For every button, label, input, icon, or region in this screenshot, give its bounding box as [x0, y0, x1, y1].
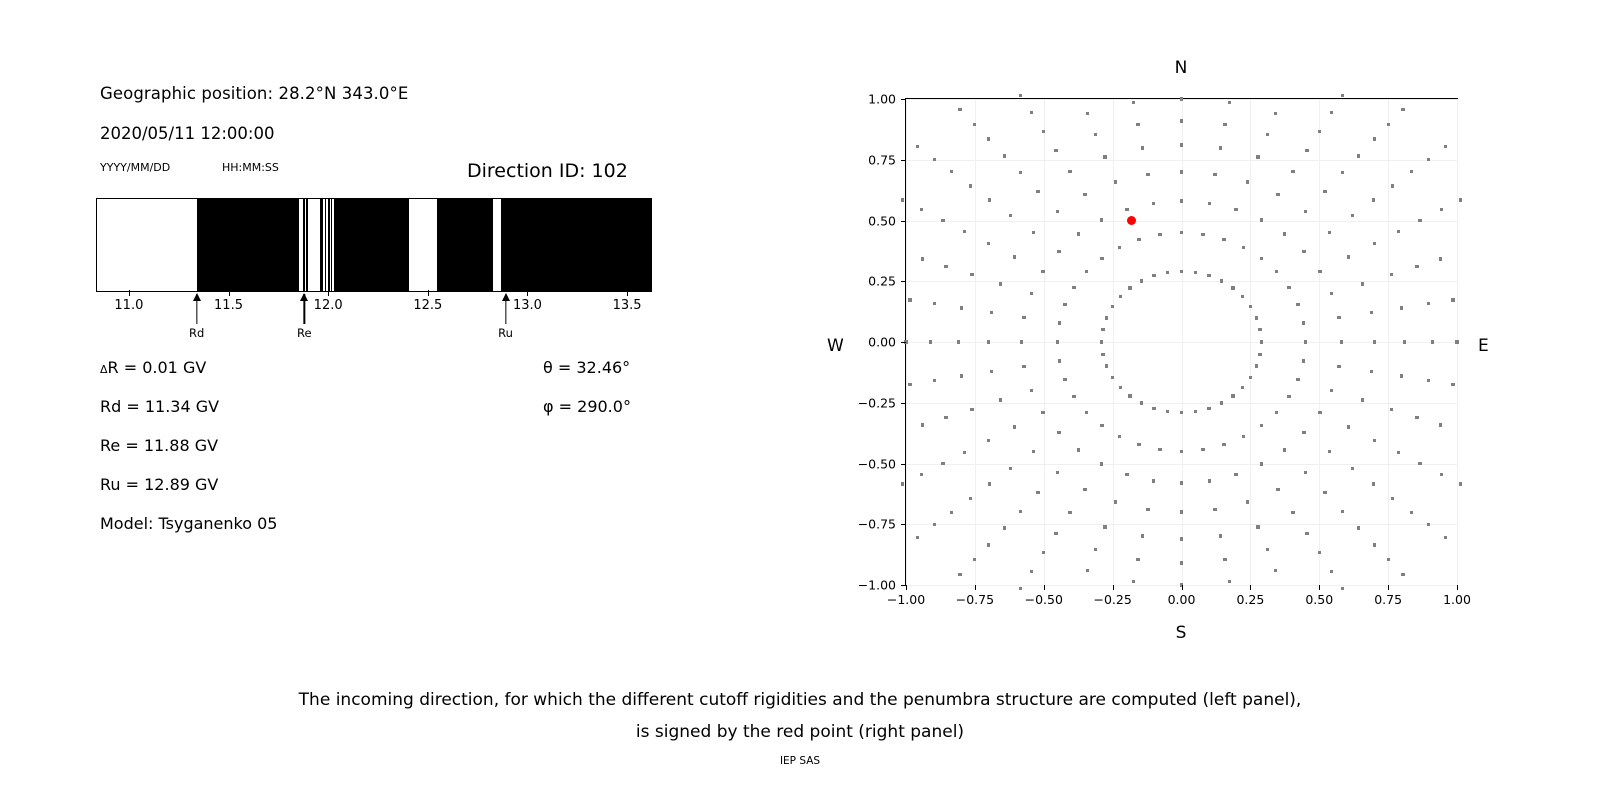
sky-map-x-tick [1044, 585, 1045, 590]
sky-map-x-tick-label: 0.25 [1236, 592, 1264, 607]
direction-grid-dot [1266, 548, 1269, 551]
direction-grid-dot [1330, 111, 1333, 114]
direction-grid-dot [1391, 497, 1394, 500]
direction-grid-dot [958, 108, 961, 111]
direction-grid-dot [1255, 316, 1258, 319]
direction-grid-dot [901, 198, 904, 201]
direction-grid-dot [1390, 408, 1393, 411]
direction-grid-dot [941, 462, 944, 465]
direction-grid-dot [1086, 569, 1089, 572]
direction-grid-dot [1180, 143, 1183, 146]
direction-grid-dot [1275, 270, 1278, 273]
direction-grid-dot [987, 137, 990, 140]
direction-grid-dot [1256, 155, 1259, 158]
direction-grid-dot [1305, 532, 1308, 535]
direction-grid-dot [988, 482, 991, 485]
direction-grid-dot [921, 257, 924, 260]
direction-grid-dot [1100, 257, 1103, 260]
direction-grid-dot [1054, 149, 1057, 152]
direction-grid-dot [1119, 295, 1122, 298]
direction-grid-dot [1022, 316, 1025, 319]
direction-grid-dot [1118, 246, 1121, 249]
direction-grid-dot [908, 298, 911, 301]
direction-grid-dot [941, 219, 944, 222]
direction-grid-dot [1207, 407, 1210, 410]
direction-grid-dot [963, 230, 966, 233]
direction-grid-dot [1019, 510, 1022, 513]
sky-map-y-tick [901, 221, 906, 222]
direction-grid-dot [1036, 491, 1039, 494]
sky-map-x-tick-label: 1.00 [1443, 592, 1471, 607]
direction-grid-dot [1030, 570, 1033, 573]
compass-south-label: S [1176, 623, 1187, 643]
direction-grid-dot [1072, 286, 1075, 289]
direction-grid-dot [1415, 416, 1418, 419]
direction-grid-dot [1296, 303, 1299, 306]
direction-grid-dot [950, 511, 953, 514]
direction-grid-dot [1330, 570, 1333, 573]
direction-grid-dot [1056, 471, 1059, 474]
direction-grid-dot [1128, 394, 1131, 397]
direction-grid-dot [1030, 111, 1033, 114]
direction-grid-dot [999, 282, 1002, 285]
direction-grid-dot [1100, 340, 1103, 343]
direction-grid-dot [1180, 561, 1183, 564]
direction-grid-dot [1373, 242, 1376, 245]
direction-grid-dot [1373, 137, 1376, 140]
direction-grid-dot [1274, 112, 1277, 115]
caption-line-1: The incoming direction, for which the di… [0, 684, 1600, 716]
direction-grid-dot [1401, 108, 1404, 111]
direction-grid-dot [1132, 101, 1135, 104]
direction-grid-dot [1063, 378, 1066, 381]
direction-grid-dot [1401, 573, 1404, 576]
direction-grid-dot [1302, 321, 1305, 324]
direction-grid-dot [1101, 353, 1104, 356]
direction-grid-dot [1328, 231, 1331, 234]
direction-grid-dot [1337, 316, 1340, 319]
direction-grid-dot [1201, 448, 1204, 451]
direction-grid-dot [1058, 359, 1061, 362]
direction-grid-dot [1118, 435, 1121, 438]
direction-grid-dot [1141, 534, 1144, 537]
direction-grid-dot [1287, 395, 1290, 398]
direction-grid-dot [1085, 411, 1088, 414]
direction-grid-dot [1418, 462, 1421, 465]
direction-grid-dot [1304, 210, 1307, 213]
sky-map-y-tick-label: 0.50 [868, 213, 896, 228]
direction-grid-dot [1100, 424, 1103, 427]
direction-grid-dot [1455, 340, 1458, 343]
direction-grid-dot [1242, 435, 1245, 438]
direction-grid-dot [1387, 123, 1390, 126]
sky-map-x-tick [906, 585, 907, 590]
direction-grid-dot [1258, 353, 1261, 356]
direction-grid-dot [1391, 184, 1394, 187]
direction-grid-dot [1022, 365, 1025, 368]
sky-map-axes: −1.00−0.75−0.50−0.250.000.250.500.751.00… [905, 98, 1458, 586]
direction-grid-dot [1400, 306, 1403, 309]
direction-grid-dot [1094, 133, 1097, 136]
direction-grid-dot [970, 273, 973, 276]
direction-grid-dot [957, 340, 960, 343]
direction-grid-dot [1222, 443, 1225, 446]
direction-grid-dot [1077, 448, 1080, 451]
direction-grid-dot [1255, 364, 1258, 367]
direction-grid-dot [1372, 482, 1375, 485]
direction-grid-dot [1427, 379, 1430, 382]
direction-grid-dot [987, 439, 990, 442]
direction-grid-dot [1318, 551, 1321, 554]
direction-grid-dot [1114, 180, 1117, 183]
grid-line-horizontal [906, 160, 1457, 161]
direction-grid-dot [1056, 340, 1059, 343]
direction-grid-dot [1351, 467, 1354, 470]
direction-grid-dot [1370, 370, 1373, 373]
direction-grid-dot [929, 340, 932, 343]
direction-grid-dot [1094, 548, 1097, 551]
direction-grid-dot [1213, 508, 1216, 511]
sky-map-y-tick [901, 160, 906, 161]
direction-grid-dot [1146, 508, 1149, 511]
direction-grid-dot [1032, 231, 1035, 234]
direction-grid-dot [1283, 448, 1286, 451]
direction-grid-dot [1152, 407, 1155, 410]
direction-grid-dot [1260, 257, 1263, 260]
direction-grid-dot [1223, 123, 1226, 126]
compass-north-label: N [1175, 58, 1188, 78]
direction-grid-dot [1220, 279, 1223, 282]
grid-line-horizontal [906, 221, 1457, 222]
direction-grid-dot [1291, 170, 1294, 173]
direction-grid-dot [933, 379, 936, 382]
direction-grid-dot [1347, 425, 1350, 428]
sky-map-y-tick [901, 342, 906, 343]
direction-grid-dot [1302, 250, 1305, 253]
direction-grid-dot [1207, 274, 1210, 277]
direction-grid-dot [1415, 265, 1418, 268]
direction-grid-dot [973, 558, 976, 561]
direction-grid-dot [1140, 401, 1143, 404]
direction-grid-dot [1009, 214, 1012, 217]
sky-map-y-tick [901, 464, 906, 465]
direction-grid-dot [1103, 155, 1106, 158]
direction-grid-dot [1058, 321, 1061, 324]
direction-grid-dot [916, 145, 919, 148]
direction-grid-dot [1242, 246, 1245, 249]
direction-grid-dot [1266, 133, 1269, 136]
direction-grid-dot [958, 573, 961, 576]
direction-grid-dot [987, 543, 990, 546]
direction-grid-dot [1427, 523, 1430, 526]
direction-grid-dot [990, 311, 993, 314]
direction-grid-dot [1152, 274, 1155, 277]
direction-grid-dot [1180, 510, 1183, 513]
direction-grid-dot [1323, 491, 1326, 494]
direction-grid-dot [1373, 439, 1376, 442]
direction-grid-dot [1246, 500, 1249, 503]
direction-grid-dot [1275, 411, 1278, 414]
sky-map-y-tick-label: 0.00 [868, 335, 896, 350]
direction-grid-dot [1030, 292, 1033, 295]
selected-direction-point[interactable] [1127, 216, 1136, 225]
direction-grid-dot [1013, 425, 1016, 428]
figure-caption: The incoming direction, for which the di… [0, 684, 1600, 748]
sky-map-x-tick [1113, 585, 1114, 590]
direction-grid-dot [1347, 255, 1350, 258]
direction-grid-dot [1180, 481, 1183, 484]
direction-grid-dot [1180, 537, 1183, 540]
direction-grid-dot [1341, 94, 1344, 97]
direction-grid-dot [1274, 569, 1277, 572]
direction-grid-dot [1152, 479, 1155, 482]
direction-grid-dot [1180, 199, 1183, 202]
direction-grid-dot [1083, 193, 1086, 196]
direction-grid-dot [1180, 119, 1183, 122]
direction-grid-dot [1260, 462, 1263, 465]
compass-east-label: E [1478, 336, 1489, 356]
direction-grid-dot [901, 482, 904, 485]
direction-grid-dot [1020, 340, 1023, 343]
direction-grid-dot [1400, 374, 1403, 377]
direction-grid-dot [1451, 298, 1454, 301]
direction-grid-dot [1234, 473, 1237, 476]
direction-grid-dot [1194, 410, 1197, 413]
direction-grid-dot [1180, 97, 1183, 100]
direction-grid-dot [1019, 171, 1022, 174]
direction-grid-dot [944, 265, 947, 268]
direction-grid-dot [1459, 482, 1462, 485]
sky-map-y-tick [901, 281, 906, 282]
direction-grid-dot [1249, 305, 1252, 308]
footer-credit: IEP SAS [0, 755, 1600, 767]
direction-grid-dot [1063, 303, 1066, 306]
sky-map-y-tick [901, 99, 906, 100]
direction-grid-dot [1013, 255, 1016, 258]
direction-grid-dot [1219, 534, 1222, 537]
direction-grid-dot [1125, 473, 1128, 476]
direction-grid-dot [1132, 580, 1135, 583]
grid-line-horizontal [906, 464, 1457, 465]
direction-grid-dot [1330, 292, 1333, 295]
sky-map-y-tick-label: −1.00 [858, 578, 896, 593]
direction-grid-dot [1208, 479, 1211, 482]
direction-grid-dot [1390, 273, 1393, 276]
compass-west-label: W [827, 336, 844, 356]
direction-grid-dot [933, 158, 936, 161]
direction-grid-dot [1397, 230, 1400, 233]
direction-grid-dot [1125, 208, 1128, 211]
direction-grid-dot [1119, 386, 1122, 389]
direction-grid-dot [933, 302, 936, 305]
direction-grid-dot [1041, 411, 1044, 414]
direction-grid-dot [1387, 558, 1390, 561]
sky-map-x-tick-label: 0.00 [1168, 592, 1196, 607]
direction-grid-dot [1072, 395, 1075, 398]
sky-map-x-tick [1319, 585, 1320, 590]
sky-map-x-tick [1182, 585, 1183, 590]
direction-grid-dot [988, 198, 991, 201]
caption-line-2: is signed by the red point (right panel) [0, 716, 1600, 748]
direction-grid-dot [1068, 511, 1071, 514]
sky-map-y-tick [901, 524, 906, 525]
direction-grid-dot [933, 523, 936, 526]
direction-grid-dot [1370, 311, 1373, 314]
direction-grid-dot [1180, 170, 1183, 173]
direction-grid-dot [1086, 112, 1089, 115]
direction-grid-dot [1231, 394, 1234, 397]
direction-grid-dot [1304, 471, 1307, 474]
direction-grid-dot [1440, 473, 1443, 476]
direction-grid-dot [1180, 411, 1183, 414]
direction-grid-dot [1128, 286, 1131, 289]
direction-grid-dot [1032, 450, 1035, 453]
direction-grid-dot [1003, 526, 1006, 529]
direction-grid-dot [1403, 340, 1406, 343]
direction-grid-dot [1152, 202, 1155, 205]
direction-grid-dot [1140, 279, 1143, 282]
direction-grid-dot [1223, 558, 1226, 561]
direction-grid-dot [1427, 302, 1430, 305]
direction-grid-dot [960, 374, 963, 377]
direction-grid-dot [1302, 359, 1305, 362]
sky-map-y-tick-label: 0.75 [868, 152, 896, 167]
direction-grid-dot [1208, 202, 1211, 205]
direction-grid-dot [1256, 525, 1259, 528]
direction-grid-dot [1141, 146, 1144, 149]
direction-grid-dot [1158, 448, 1161, 451]
direction-grid-dot [987, 340, 990, 343]
direction-grid-dot [999, 398, 1002, 401]
direction-grid-dot [1304, 340, 1307, 343]
direction-grid-dot [969, 184, 972, 187]
direction-grid-dot [1283, 232, 1286, 235]
direction-grid-dot [1180, 231, 1183, 234]
direction-grid-dot [1042, 130, 1045, 133]
direction-grid-dot [920, 208, 923, 211]
sky-map-y-tick-label: 0.25 [868, 274, 896, 289]
direction-grid-dot [1105, 316, 1108, 319]
direction-grid-dot [1054, 532, 1057, 535]
direction-grid-dot [1241, 295, 1244, 298]
direction-grid-dot [1219, 146, 1222, 149]
direction-grid-dot [1137, 238, 1140, 241]
direction-grid-dot [1276, 488, 1279, 491]
sky-map-x-tick-label: −0.25 [1093, 592, 1131, 607]
right-panel: −1.00−0.75−0.50−0.250.000.250.500.751.00… [0, 0, 1600, 660]
grid-line-horizontal [906, 403, 1457, 404]
direction-grid-dot [1276, 193, 1279, 196]
sky-map-x-tick [1250, 585, 1251, 590]
direction-grid-dot [1372, 198, 1375, 201]
direction-grid-dot [1444, 536, 1447, 539]
sky-map-y-tick [901, 585, 906, 586]
direction-grid-dot [1003, 154, 1006, 157]
direction-grid-dot [908, 383, 911, 386]
direction-grid-dot [1009, 467, 1012, 470]
direction-grid-dot [1340, 340, 1343, 343]
direction-grid-dot [944, 416, 947, 419]
sky-map-x-tick-label: −0.75 [956, 592, 994, 607]
direction-grid-dot [1231, 286, 1234, 289]
direction-grid-dot [1041, 270, 1044, 273]
direction-grid-dot [921, 423, 924, 426]
direction-grid-dot [1228, 580, 1231, 583]
direction-grid-dot [1361, 398, 1364, 401]
direction-grid-dot [1410, 511, 1413, 514]
grid-line-horizontal [906, 524, 1457, 525]
direction-grid-dot [1158, 233, 1161, 236]
direction-grid-dot [1077, 232, 1080, 235]
direction-grid-dot [1357, 154, 1360, 157]
direction-grid-dot [969, 497, 972, 500]
direction-grid-dot [1111, 376, 1114, 379]
direction-grid-dot [1068, 170, 1071, 173]
direction-grid-dot [960, 306, 963, 309]
direction-grid-dot [963, 451, 966, 454]
direction-grid-dot [1287, 286, 1290, 289]
direction-grid-dot [1459, 198, 1462, 201]
direction-grid-dot [1351, 214, 1354, 217]
sky-map-y-tick-label: −0.50 [858, 456, 896, 471]
direction-grid-dot [1418, 219, 1421, 222]
sky-map-x-tick [1457, 585, 1458, 590]
direction-grid-dot [1056, 210, 1059, 213]
direction-grid-dot [1083, 488, 1086, 491]
direction-grid-dot [1318, 270, 1321, 273]
direction-grid-dot [1241, 386, 1244, 389]
direction-grid-dot [1085, 270, 1088, 273]
direction-grid-dot [1019, 587, 1022, 590]
direction-grid-dot [1222, 238, 1225, 241]
sky-map-x-tick [975, 585, 976, 590]
direction-grid-dot [1036, 190, 1039, 193]
direction-grid-dot [1337, 365, 1340, 368]
direction-grid-dot [1260, 340, 1263, 343]
direction-grid-dot [1166, 271, 1169, 274]
direction-grid-dot [1249, 376, 1252, 379]
direction-grid-dot [1444, 145, 1447, 148]
direction-grid-dot [1291, 511, 1294, 514]
direction-grid-dot [916, 536, 919, 539]
direction-grid-dot [1234, 208, 1237, 211]
direction-grid-dot [1101, 328, 1104, 331]
direction-grid-dot [1030, 389, 1033, 392]
direction-grid-dot [973, 123, 976, 126]
direction-grid-dot [1341, 510, 1344, 513]
direction-grid-dot [1260, 218, 1263, 221]
direction-grid-dot [1228, 101, 1231, 104]
sky-map-y-tick-label: −0.75 [858, 517, 896, 532]
direction-grid-dot [1323, 190, 1326, 193]
direction-grid-dot [1180, 270, 1183, 273]
direction-grid-dot [1246, 180, 1249, 183]
direction-grid-dot [1373, 340, 1376, 343]
sky-map-y-tick-label: 1.00 [868, 92, 896, 107]
direction-grid-dot [1330, 389, 1333, 392]
sky-map-x-tick-label: −0.50 [1025, 592, 1063, 607]
direction-grid-dot [1100, 218, 1103, 221]
direction-grid-dot [950, 170, 953, 173]
sky-map-y-tick-label: −0.25 [858, 395, 896, 410]
direction-grid-dot [920, 473, 923, 476]
direction-grid-dot [1318, 130, 1321, 133]
direction-grid-dot [1103, 525, 1106, 528]
direction-grid-dot [1341, 171, 1344, 174]
direction-grid-dot [987, 242, 990, 245]
direction-grid-dot [1180, 450, 1183, 453]
direction-grid-dot [1451, 383, 1454, 386]
